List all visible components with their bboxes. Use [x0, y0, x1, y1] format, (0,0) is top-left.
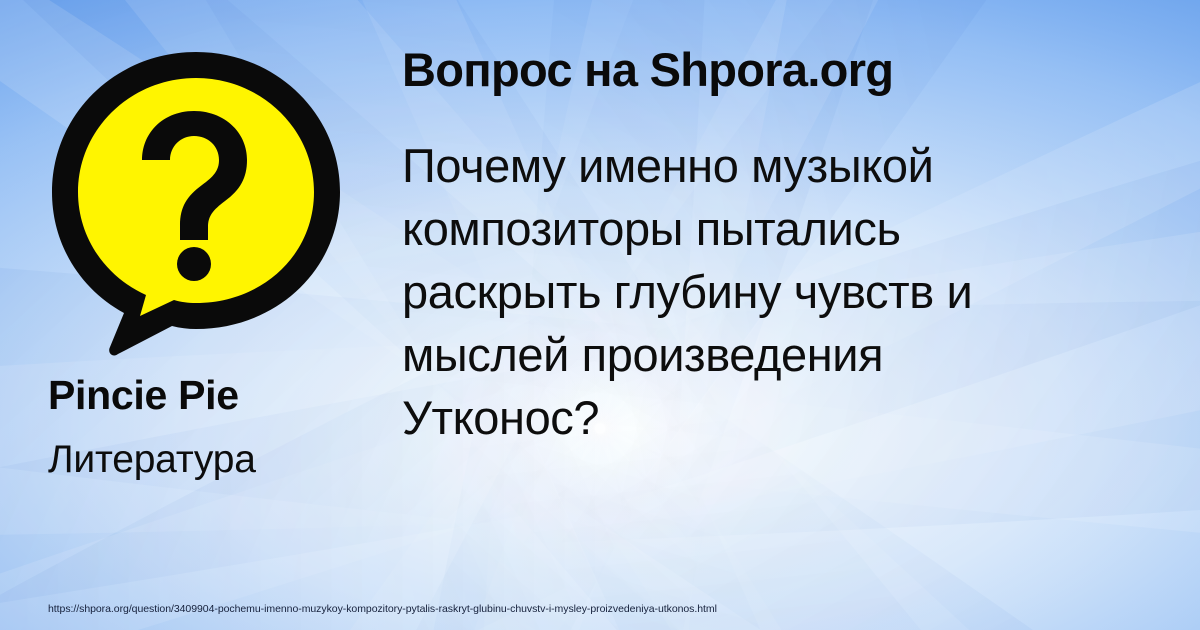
page-title: Вопрос на Shpora.org — [402, 44, 1102, 97]
question-category: Литература — [48, 440, 378, 481]
question-share-card: Pincie Pie Литература Вопрос на Shpora.o… — [0, 0, 1200, 630]
question-speech-bubble-icon — [48, 48, 348, 356]
author-column: Pincie Pie Литература — [48, 48, 378, 481]
question-text: Почему именно музыкой композиторы пытали… — [402, 135, 1092, 450]
question-column: Вопрос на Shpora.org Почему именно музык… — [402, 44, 1102, 449]
source-url: https://shpora.org/question/3409904-poch… — [48, 604, 717, 615]
author-name: Pincie Pie — [48, 374, 298, 418]
